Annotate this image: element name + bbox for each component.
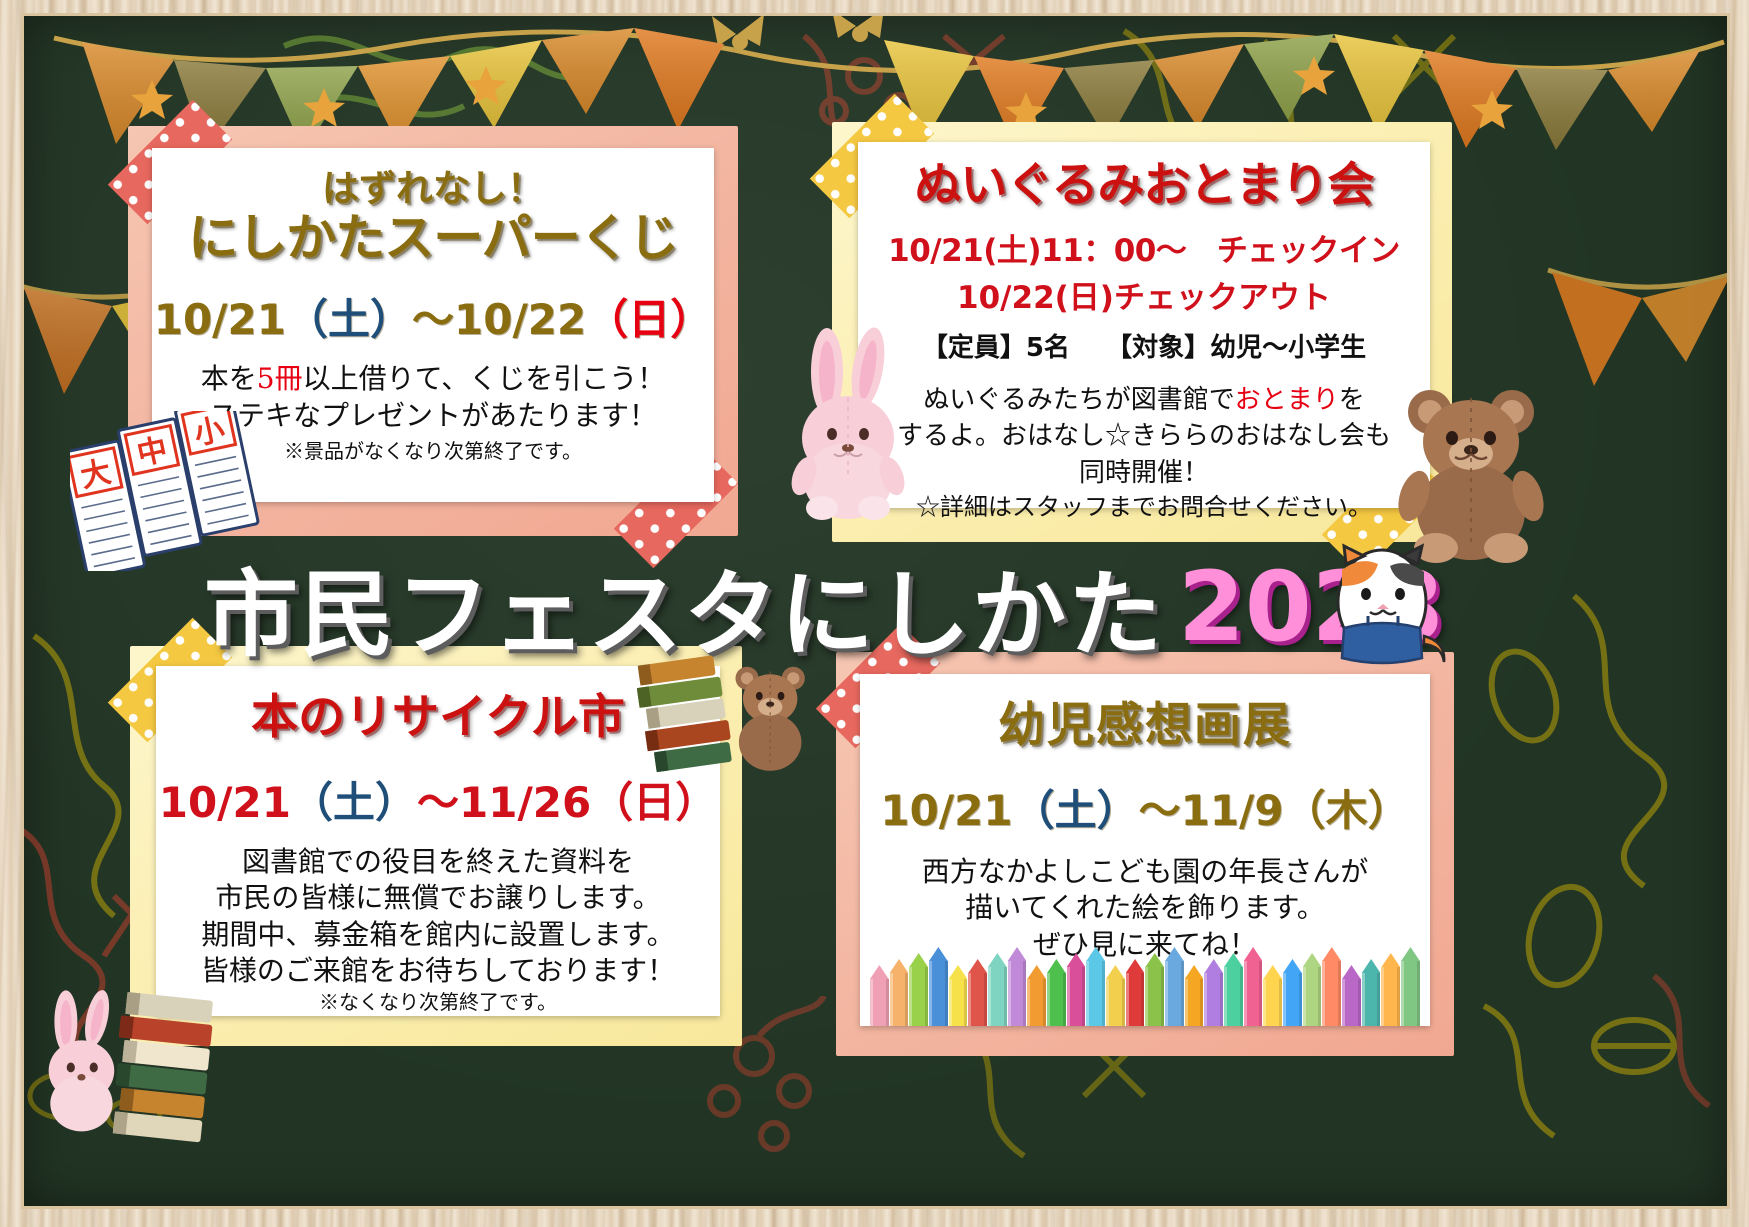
crayon (1283, 972, 1302, 1026)
crayon-tip (1067, 953, 1086, 967)
sleepover-capacity-row: 【定員】5名 【対象】幼児～小学生 (858, 327, 1430, 364)
crayon (909, 966, 928, 1026)
crayon (1145, 966, 1164, 1026)
crayon-tip (1126, 959, 1145, 973)
lottery-date-start: 10/21 (154, 295, 286, 344)
crayon (890, 972, 909, 1026)
sleepover-schedule-line2: 10/22(日)チェックアウト (858, 272, 1430, 317)
crayon (1381, 966, 1400, 1026)
kids-art-dates: 10/21（土）～11/9（木） (860, 777, 1430, 838)
sleepover-capacity-label: 【定員】 (922, 333, 1026, 363)
crayon-tip (870, 965, 889, 979)
bunting-flags-side-right (1544, 266, 1727, 426)
lottery-body-line1-c: 以上借りて、くじを引こう！ (303, 362, 666, 395)
kids-art-body: 西方なかよしこども園の年長さんが 描いてくれた絵を飾ります。 ぜひ見に来てね！ (860, 854, 1430, 963)
sleepover-capacity-value: 5名 (1026, 333, 1070, 363)
crayon (1126, 972, 1145, 1026)
crayon (1204, 972, 1223, 1026)
kids-art-date-end: 11/9 (1181, 786, 1284, 835)
sleepover-body-line2: するよ。おはなし☆きららのおはなし会も (858, 418, 1430, 454)
panel-lottery-inner: はずれなし！ にしかたスーパーくじ 10/21（土）～10/22（日） 本を5冊… (152, 148, 714, 502)
crayon (870, 978, 889, 1026)
panel-lottery: はずれなし！ にしかたスーパーくじ 10/21（土）～10/22（日） 本を5冊… (128, 126, 738, 536)
crayon-tip (1165, 947, 1184, 961)
crayon-tip (1185, 965, 1204, 979)
crayon-tip (1381, 953, 1400, 967)
crayon (929, 960, 948, 1026)
recycle-body: 図書館での役目を終えた資料を 市民の皆様に無償でお譲りします。 期間中、募金箱を… (156, 844, 720, 1016)
sleepover-body-line1-c: を (1339, 385, 1365, 415)
sleepover-target-value: 幼児～小学生 (1210, 333, 1366, 363)
crayon (1342, 978, 1361, 1026)
crayon (1303, 966, 1322, 1026)
crayon (988, 966, 1007, 1026)
sleepover-body-line1: ぬいぐるみたちが図書館でおとまりを (858, 382, 1430, 418)
crayon-tip (1303, 953, 1322, 967)
crayon-tip (1047, 959, 1066, 973)
crayon-tip (1362, 959, 1381, 973)
crayon (1086, 960, 1105, 1026)
sleepover-target-label: 【対象】 (1106, 333, 1210, 363)
crayon-tip (1008, 947, 1027, 961)
sleepover-body-line4: ☆詳細はスタッフまでお問合せください。 (858, 491, 1430, 525)
recycle-date-end: 11/26 (459, 778, 591, 827)
panel-kids-art-inner: 幼児感想画展 10/21（土）～11/9（木） 西方なかよしこども園の年長さんが… (860, 674, 1430, 1026)
crayon-tip (929, 947, 948, 961)
recycle-body-line1: 図書館での役目を終えた資料を (156, 844, 720, 880)
crayon-tip (909, 953, 928, 967)
crayon (1263, 978, 1282, 1026)
page-title: 市民フェスタにしかた (204, 539, 1164, 675)
crayon (1027, 978, 1046, 1026)
crayon (1362, 972, 1381, 1026)
crayon-row (870, 948, 1420, 1026)
lottery-note: ※景品がなくなり次第終了です。 (152, 438, 714, 464)
recycle-date-start: 10/21 (159, 778, 291, 827)
poster-root: はずれなし！ にしかたスーパーくじ 10/21（土）～10/22（日） 本を5冊… (0, 0, 1749, 1227)
recycle-range-mark: ～ (417, 778, 459, 827)
panel-sleepover: ぬいぐるみおとまり会 10/21(土)11：00～ チェックイン 10/22(日… (832, 122, 1452, 542)
title-year: 2023 (1178, 551, 1445, 663)
lottery-body-line2: ステキなプレゼントがあたります！ (152, 398, 714, 434)
recycle-dates: 10/21（土）～11/26（日） (156, 769, 720, 830)
neon-doodle-right (1454, 576, 1727, 1196)
lottery-dates: 10/21（土）～10/22（日） (152, 286, 714, 347)
crayon-tip (1244, 947, 1263, 961)
sleepover-body-line1-a: ぬいぐるみたちが図書館で (923, 385, 1234, 415)
recycle-body-line3: 期間中、募金箱を館内に設置します。 (156, 917, 720, 953)
crayon (1401, 960, 1420, 1026)
crayon-tip (1145, 953, 1164, 967)
kids-art-range-mark: ～ (1139, 786, 1181, 835)
crayon-tip (1283, 959, 1302, 973)
lottery-body: 本を5冊以上借りて、くじを引こう！ ステキなプレゼントがあたります！ ※景品がな… (152, 361, 714, 464)
crayon-tip (968, 959, 987, 973)
recycle-body-line4: 皆様のご来館をお待ちしております！ (156, 953, 720, 989)
recycle-body-line2: 市民の皆様に無償でお譲りします。 (156, 880, 720, 916)
crayon (1224, 966, 1243, 1026)
lottery-body-line1-count: 5冊 (257, 362, 303, 395)
crayon (1244, 960, 1263, 1026)
crayon-tip (1401, 947, 1420, 961)
lottery-date-end: 10/22 (454, 295, 586, 344)
crayon (968, 972, 987, 1026)
crayon-tip (949, 965, 968, 979)
svg-text:大: 大 (77, 454, 114, 494)
lottery-headline: はずれなし！ (152, 170, 714, 208)
crayon (1067, 966, 1086, 1026)
lottery-range-mark: ～ (412, 295, 454, 344)
crayon (949, 978, 968, 1026)
crayon (1008, 960, 1027, 1026)
crayon-tip (1086, 947, 1105, 961)
sleepover-body-highlight: おとまり (1235, 385, 1339, 415)
crayon (1322, 960, 1341, 1026)
crayon-tip (1322, 947, 1341, 961)
kids-art-body-line2: 描いてくれた絵を飾ります。 (860, 890, 1430, 926)
sleepover-schedule-text-1: 10/21(土)11：00～ チェックイン (888, 233, 1400, 269)
sleepover-body-line3: 同時開催！ (858, 455, 1430, 491)
kids-art-date-start: 10/21 (880, 786, 1012, 835)
panel-recycle-inner: 本のリサイクル市 10/21（土）～11/26（日） 図書館での役目を終えた資料… (156, 666, 720, 1016)
crayon-tip (1342, 965, 1361, 979)
lottery-date-end-day: （日） (586, 295, 712, 344)
crayon-tip (1263, 965, 1282, 979)
main-title-block: 市民フェスタにしかた 2023 (204, 552, 1544, 662)
lottery-body-line1: 本を5冊以上借りて、くじを引こう！ (152, 361, 714, 397)
recycle-note: ※なくなり次第終了です。 (156, 989, 720, 1015)
crayon-tip (1204, 959, 1223, 973)
lottery-title: にしかたスーパーくじ (152, 212, 714, 264)
sleepover-schedule-line1: 10/21(土)11：00～ チェックイン (858, 225, 1430, 270)
panel-sleepover-inner: ぬいぐるみおとまり会 10/21(土)11：00～ チェックイン 10/22(日… (858, 142, 1430, 508)
crayon-tip (1106, 965, 1125, 979)
crayon (1106, 978, 1125, 1026)
crayon-tip (890, 959, 909, 973)
kids-art-body-line1: 西方なかよしこども園の年長さんが (860, 854, 1430, 890)
crayon (1185, 978, 1204, 1026)
recycle-date-end-day: （日） (591, 778, 717, 827)
chalkboard-background: はずれなし！ にしかたスーパーくじ 10/21（土）～10/22（日） 本を5冊… (24, 16, 1727, 1206)
crayon-tip (988, 953, 1007, 967)
recycle-title: 本のリサイクル市 (156, 694, 720, 743)
lottery-body-line1-a: 本を (201, 362, 257, 395)
crayon-tip (1027, 965, 1046, 979)
lottery-date-start-day: （土） (286, 295, 412, 344)
crayon (1047, 972, 1066, 1026)
kids-art-title: 幼児感想画展 (860, 702, 1430, 751)
panel-recycle: 本のリサイクル市 10/21（土）～11/26（日） 図書館での役目を終えた資料… (130, 646, 742, 1046)
panel-kids-art: 幼児感想画展 10/21（土）～11/9（木） 西方なかよしこども園の年長さんが… (836, 652, 1454, 1056)
sleepover-body: ぬいぐるみたちが図書館でおとまりを するよ。おはなし☆きららのおはなし会も 同時… (858, 382, 1430, 525)
kids-art-date-end-day: （木） (1284, 786, 1410, 835)
recycle-date-start-day: （土） (291, 778, 417, 827)
crayon (1165, 960, 1184, 1026)
kids-art-date-start-day: （土） (1013, 786, 1139, 835)
sleepover-title: ぬいぐるみおとまり会 (858, 162, 1430, 211)
crayon-tip (1224, 953, 1243, 967)
